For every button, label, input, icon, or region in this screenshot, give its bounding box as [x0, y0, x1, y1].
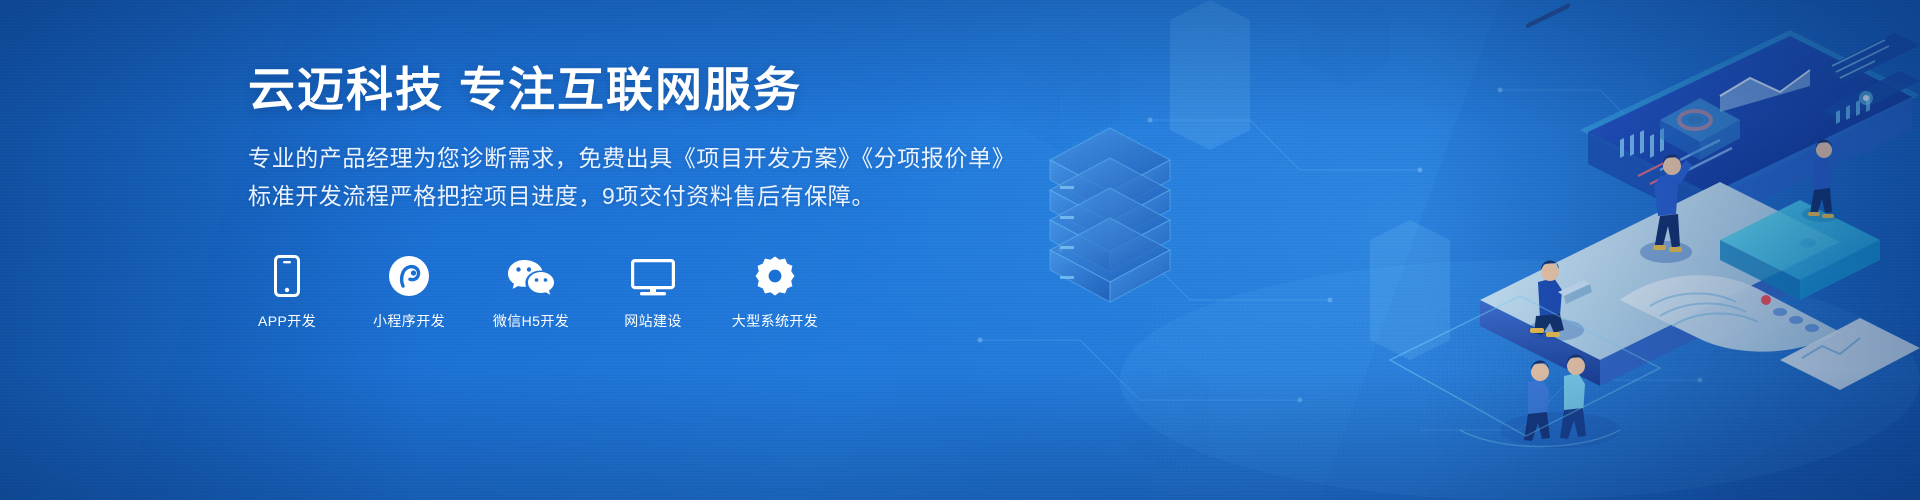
service-item-large-system[interactable]: 大型系统开发	[736, 251, 814, 331]
service-item-wechat-h5[interactable]: 微信H5开发	[492, 251, 570, 331]
service-item-website[interactable]: 网站建设	[614, 251, 692, 331]
service-label: 大型系统开发	[732, 311, 818, 331]
dashboard-monitor	[1580, 0, 1920, 226]
cyan-podium	[1720, 200, 1880, 300]
service-item-mini-program[interactable]: 小程序开发	[370, 251, 448, 331]
subtitle-line-2: 标准开发流程严格把控项目进度，9项交付资料售后有保障。	[248, 178, 1148, 215]
monitor-icon	[631, 251, 675, 297]
service-item-app[interactable]: APP开发	[248, 251, 326, 331]
service-label: 微信H5开发	[493, 311, 569, 331]
data-ribbon	[1620, 275, 1840, 351]
service-label: 网站建设	[624, 311, 682, 331]
person-laptop	[1528, 261, 1592, 341]
promo-banner: 云迈科技 专注互联网服务 专业的产品经理为您诊断需求，免费出具《项目开发方案》《…	[0, 0, 1920, 500]
floating-panel	[1660, 98, 1740, 160]
wechat-icon	[507, 251, 555, 297]
service-label: 小程序开发	[373, 311, 445, 331]
subtitle-line-1: 专业的产品经理为您诊断需求，免费出具《项目开发方案》《分项报价单》	[248, 140, 1148, 177]
gear-icon	[754, 251, 796, 297]
service-list: APP开发 小程序开发	[248, 251, 1148, 331]
analytics-card	[1780, 0, 1920, 390]
smartphone-icon	[274, 251, 300, 297]
page-title: 云迈科技 专注互联网服务	[248, 62, 1148, 117]
mini-program-icon	[388, 251, 430, 297]
phone-platform	[1480, 2, 1840, 386]
person-presenter	[1640, 155, 1692, 263]
service-label: APP开发	[258, 311, 316, 331]
banner-subtitle: 专业的产品经理为您诊断需求，免费出具《项目开发方案》《分项报价单》 标准开发流程…	[248, 140, 1148, 215]
person-group-bottom	[1500, 355, 1620, 448]
banner-content: 云迈科技 专注互联网服务 专业的产品经理为您诊断需求，免费出具《项目开发方案》《…	[248, 62, 1148, 331]
person-podium	[1802, 139, 1842, 222]
